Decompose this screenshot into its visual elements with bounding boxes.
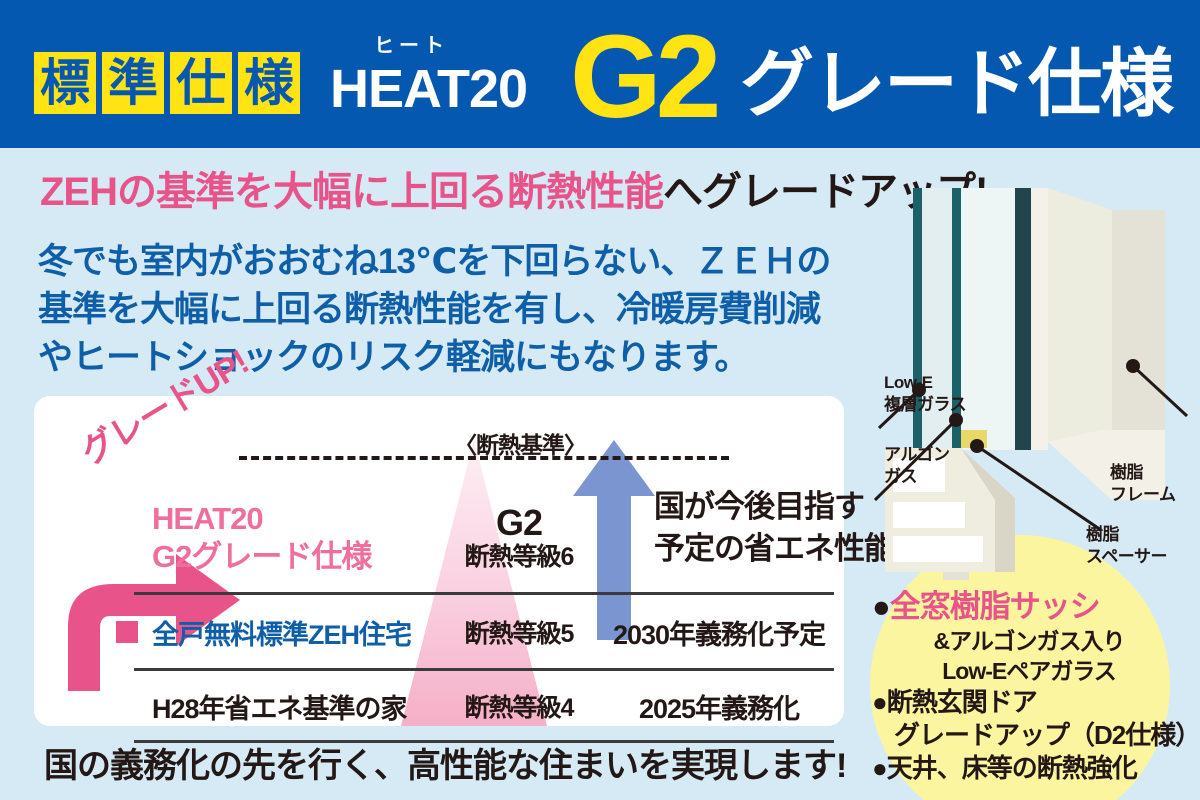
badge-char-1: 標 <box>34 52 96 114</box>
label-lowe-line-1: Low-E <box>884 372 966 394</box>
feature-3-main: 天井、床等の断熱強化 <box>887 753 1137 783</box>
standard-threshold-dashed-line <box>239 456 729 460</box>
lede-paragraph: 冬でも室内がおおむね13℃を下回らない、ＺＥＨの 基準を大幅に上回る断熱性能を有… <box>38 238 868 382</box>
row3-grade-cell: 断熱等級4 <box>434 688 604 724</box>
row1-label-cell: HEAT20 G2グレード仕様 <box>134 500 434 576</box>
badge-char-2: 準 <box>102 52 164 114</box>
row1-label-line-1: HEAT20 <box>152 500 434 538</box>
feature-2-sub-1: グレードアップ（D2仕様） <box>872 719 1192 752</box>
row2-label-text: 全戸無料標準ZEH住宅 <box>152 620 411 650</box>
label-argon-gas: アルゴン ガス <box>884 444 950 488</box>
feature-item-1: ●全窓樹脂サッシ <box>872 588 1192 626</box>
header-bar: 標 準 仕 様 ヒート HEAT20 G2 グレード仕様 <box>0 0 1200 148</box>
feature-item-2: ●断熱玄関ドア <box>872 686 1192 719</box>
bullet-dot-icon-1: ● <box>872 589 890 624</box>
lede-line-3: やヒートショックのリスク軽減にもなります。 <box>38 334 868 382</box>
comparison-rows: HEAT20 G2グレード仕様 G2 断熱等級6 全戸無料標準ZEH住宅 断熱等… <box>134 446 834 714</box>
heat20-furigana: ヒート <box>330 34 580 58</box>
label-argon-line-1: アルゴン <box>884 444 950 466</box>
badge-char-4: 様 <box>238 52 300 114</box>
grade-spec-word: グレード仕様 <box>740 44 1172 124</box>
standard-spec-badge: 標 準 仕 様 <box>34 52 300 114</box>
headline-pink-part: ZEHの基準を大幅に上回る断熱性能 <box>40 170 663 214</box>
lede-line-2: 基準を大幅に上回る断熱性能を有し、冷暖房費削減 <box>38 286 868 334</box>
label-lowe-line-2: 複層ガラス <box>884 394 966 416</box>
feature-1-sub-2: Low-Eペアガラス <box>872 656 1192 686</box>
footer-tagline: 国の義務化の先を行く、高性能な住まいを実現します! <box>44 738 846 787</box>
lede-line-1: 冬でも室内がおおむね13℃を下回らない、ＺＥＨの <box>38 238 868 286</box>
row3-note-cell: 2025年義務化 <box>604 687 834 726</box>
label-resin-spacer: 樹脂 スペーサー <box>1086 524 1167 568</box>
label-frame-line-2: フレーム <box>1110 484 1176 506</box>
row2-grade-cell: 断熱等級5 <box>434 614 604 650</box>
label-lowe-glass: Low-E 複層ガラス <box>884 372 966 416</box>
row1-label-line-2: G2グレード仕様 <box>152 538 434 576</box>
feature-2-main: 断熱玄関ドア <box>887 687 1037 717</box>
g2-code: G2 <box>570 18 715 136</box>
row2-label-cell: 全戸無料標準ZEH住宅 <box>134 613 434 652</box>
infographic-page: 標 準 仕 様 ヒート HEAT20 G2 グレード仕様 ZEHの基準を大幅に上… <box>0 0 1200 800</box>
features-bullet-list: ●全窓樹脂サッシ &アルゴンガス入り Low-Eペアガラス ●断熱玄関ドア グレ… <box>872 588 1192 785</box>
row-divider-2 <box>134 668 834 671</box>
row3-label-cell: H28年省エネ基準の家 <box>134 687 434 726</box>
row1-grade-main: G2 <box>434 504 604 542</box>
row2-pink-marker-icon <box>116 621 138 643</box>
badge-char-3: 仕 <box>170 52 232 114</box>
label-argon-line-2: ガス <box>884 466 950 488</box>
row-divider-1 <box>134 592 834 595</box>
bullet-dot-icon-3: ● <box>872 753 887 783</box>
label-spacer-line-1: 樹脂 <box>1086 524 1167 546</box>
row1-grade-cell: G2 断熱等級6 <box>434 504 604 572</box>
table-row-h28: H28年省エネ基準の家 断熱等級4 2025年義務化 <box>134 672 834 740</box>
row1-grade-sub: 断熱等級6 <box>434 542 604 572</box>
feature-1-main: 全窓樹脂サッシ <box>890 589 1100 624</box>
label-spacer-line-2: スペーサー <box>1086 546 1167 568</box>
feature-1-sub-1: &アルゴンガス入り <box>872 626 1192 656</box>
table-row-zeh: 全戸無料標準ZEH住宅 断熱等級5 2030年義務化予定 <box>134 596 834 668</box>
heat20-brand-block: ヒート HEAT20 <box>330 34 580 120</box>
comparison-chart-card: グレードUP! 〈断熱基準〉 国が今後目指す 予定の省エネ性能 <box>34 396 844 726</box>
page-headline: ZEHの基準を大幅に上回る断熱性能へグレードアップ! <box>40 168 987 216</box>
heat20-wordmark: HEAT20 <box>330 58 580 120</box>
label-resin-frame: 樹脂 フレーム <box>1110 462 1176 506</box>
bullet-dot-icon-2: ● <box>872 687 887 717</box>
table-row-heat20-g2: HEAT20 G2グレード仕様 G2 断熱等級6 <box>134 484 834 592</box>
label-frame-line-1: 樹脂 <box>1110 462 1176 484</box>
row2-note-cell: 2030年義務化予定 <box>604 613 834 652</box>
feature-item-3: ●天井、床等の断熱強化 <box>872 752 1192 785</box>
